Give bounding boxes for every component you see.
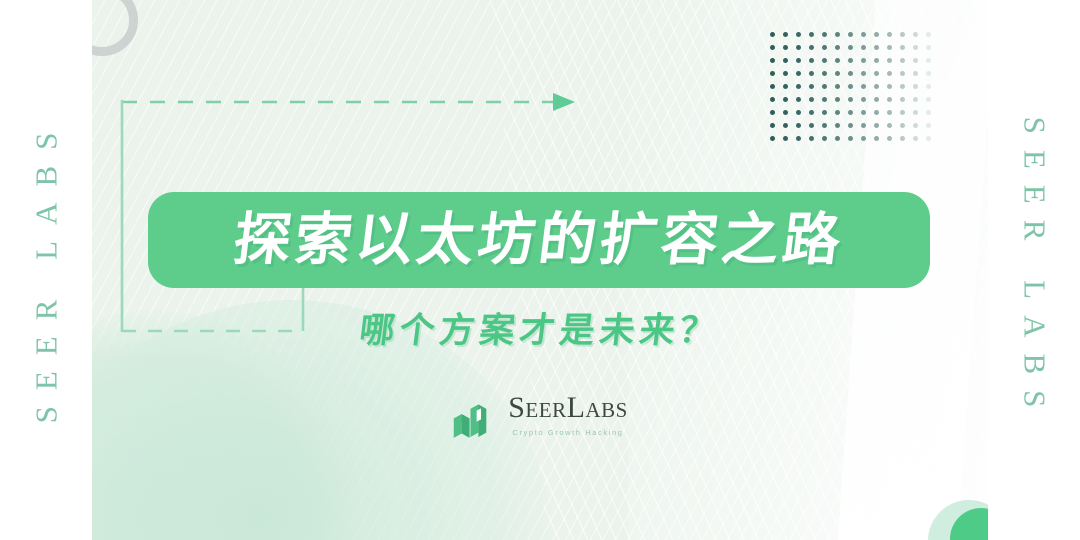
dot-grid-dot — [870, 67, 883, 80]
dot-grid-dot — [792, 93, 805, 106]
dot-grid-dot — [896, 132, 909, 145]
dot-grid-dot — [883, 67, 896, 80]
page-title: 探索以太坊的扩容之路 — [231, 212, 848, 269]
dot-grid-pattern — [766, 28, 935, 145]
dot-grid-dot — [922, 132, 935, 145]
dot-grid-dot — [896, 28, 909, 41]
dot-grid-dot — [766, 28, 779, 41]
dot-grid-row — [766, 93, 935, 106]
dot-grid-dot — [844, 28, 857, 41]
dot-grid-dot — [766, 67, 779, 80]
dot-grid-row — [766, 41, 935, 54]
dot-grid-dot — [896, 41, 909, 54]
dot-grid-dot — [766, 93, 779, 106]
dot-grid-dot — [883, 41, 896, 54]
dot-grid-dot — [766, 132, 779, 145]
dot-grid-dot — [766, 106, 779, 119]
dot-grid-dot — [896, 67, 909, 80]
dot-grid-dot — [792, 54, 805, 67]
dot-grid-dot — [805, 67, 818, 80]
dot-grid-dot — [870, 54, 883, 67]
dot-grid-dot — [896, 106, 909, 119]
dot-grid-dot — [766, 54, 779, 67]
dot-grid-dot — [805, 132, 818, 145]
dot-grid-dot — [818, 132, 831, 145]
dot-grid-dot — [870, 132, 883, 145]
dot-grid-dot — [857, 106, 870, 119]
dot-grid-dot — [909, 119, 922, 132]
dot-grid-row — [766, 80, 935, 93]
dot-grid-dot — [805, 54, 818, 67]
dot-grid-dot — [909, 106, 922, 119]
dot-grid-dot — [792, 132, 805, 145]
dot-grid-dot — [909, 54, 922, 67]
brand-text: SeerLabs Crypto Growth Hacking — [508, 393, 628, 437]
dot-grid-dot — [844, 132, 857, 145]
dot-grid-row — [766, 54, 935, 67]
dot-grid-dot — [779, 132, 792, 145]
dot-grid-dot — [909, 93, 922, 106]
dot-grid-dot — [883, 132, 896, 145]
dot-grid-dot — [831, 119, 844, 132]
dot-grid-dot — [831, 28, 844, 41]
dot-grid-dot — [831, 67, 844, 80]
dot-grid-dot — [792, 119, 805, 132]
dot-grid-dot — [909, 132, 922, 145]
dot-grid-dot — [883, 106, 896, 119]
dot-grid-dot — [818, 80, 831, 93]
dot-grid-dot — [844, 80, 857, 93]
dot-grid-dot — [792, 106, 805, 119]
dot-grid-dot — [844, 106, 857, 119]
dot-grid-dot — [844, 67, 857, 80]
dot-grid-dot — [922, 93, 935, 106]
left-side-panel: SEER LABS — [0, 0, 92, 540]
dot-grid-dot — [922, 119, 935, 132]
dot-grid-dot — [844, 93, 857, 106]
dot-grid-dot — [857, 119, 870, 132]
dot-grid-dot — [805, 28, 818, 41]
dot-grid-dot — [831, 106, 844, 119]
dot-grid-dot — [909, 28, 922, 41]
dot-grid-dot — [818, 119, 831, 132]
dot-grid-dot — [896, 54, 909, 67]
left-vertical-wordmark: SEER LABS — [28, 117, 64, 424]
dot-grid-dot — [766, 41, 779, 54]
dot-grid-dot — [922, 28, 935, 41]
dot-grid-dot — [896, 80, 909, 93]
dot-grid-row — [766, 106, 935, 119]
dot-grid-row — [766, 132, 935, 145]
dot-grid-dot — [779, 80, 792, 93]
dot-grid-row — [766, 28, 935, 41]
dot-grid-dot — [844, 41, 857, 54]
dot-grid-dot — [883, 80, 896, 93]
dot-grid-dot — [792, 80, 805, 93]
dot-grid-dot — [779, 67, 792, 80]
dot-grid-dot — [805, 93, 818, 106]
dot-grid-dot — [909, 80, 922, 93]
dot-grid-dot — [870, 28, 883, 41]
dot-grid-dot — [909, 41, 922, 54]
dot-grid-dot — [818, 67, 831, 80]
dot-grid-dot — [883, 28, 896, 41]
dot-grid-dot — [857, 41, 870, 54]
dot-grid-dot — [805, 80, 818, 93]
dot-grid-dot — [779, 28, 792, 41]
dot-grid-dot — [870, 106, 883, 119]
dot-grid-dot — [792, 41, 805, 54]
brand-tagline: Crypto Growth Hacking — [512, 428, 623, 437]
page-subtitle: 哪个方案才是未来？ — [0, 302, 1080, 353]
title-banner: 探索以太坊的扩容之路 — [148, 192, 930, 288]
dot-grid-dot — [831, 54, 844, 67]
dot-grid-dot — [805, 119, 818, 132]
dot-grid-dot — [883, 93, 896, 106]
dot-grid-dot — [805, 41, 818, 54]
dot-grid-dot — [818, 54, 831, 67]
dot-grid-row — [766, 67, 935, 80]
dot-grid-row — [766, 119, 935, 132]
dot-grid-dot — [779, 41, 792, 54]
dot-grid-dot — [909, 67, 922, 80]
dot-grid-dot — [870, 119, 883, 132]
brand-name: SeerLabs — [508, 393, 628, 423]
dot-grid-dot — [896, 93, 909, 106]
dot-grid-dot — [870, 80, 883, 93]
right-side-panel: SEER LABS — [988, 0, 1080, 540]
dot-grid-dot — [818, 41, 831, 54]
dot-grid-dot — [922, 80, 935, 93]
dot-grid-dot — [844, 54, 857, 67]
dot-grid-dot — [831, 132, 844, 145]
dot-grid-dot — [805, 106, 818, 119]
dot-grid-dot — [857, 54, 870, 67]
dot-grid-dot — [922, 106, 935, 119]
dot-grid-dot — [857, 93, 870, 106]
dot-grid-dot — [818, 28, 831, 41]
dot-grid-dot — [870, 41, 883, 54]
dot-grid-dot — [922, 54, 935, 67]
dot-grid-dot — [857, 67, 870, 80]
dot-grid-dot — [922, 67, 935, 80]
dot-grid-dot — [844, 119, 857, 132]
brand-logo: SeerLabs Crypto Growth Hacking — [0, 392, 1080, 438]
dot-grid-dot — [857, 132, 870, 145]
dot-grid-dot — [857, 80, 870, 93]
dot-grid-dot — [831, 41, 844, 54]
isometric-bars-logo-icon — [452, 392, 496, 438]
dot-grid-dot — [779, 54, 792, 67]
dot-grid-dot — [870, 93, 883, 106]
dot-grid-dot — [896, 119, 909, 132]
dot-grid-dot — [779, 119, 792, 132]
dot-grid-dot — [883, 119, 896, 132]
dot-grid-dot — [831, 93, 844, 106]
dot-grid-dot — [883, 54, 896, 67]
right-vertical-wordmark: SEER LABS — [1016, 117, 1052, 424]
dot-grid-dot — [779, 106, 792, 119]
dot-grid-dot — [766, 80, 779, 93]
poster-root: 探索以太坊的扩容之路 哪个方案才是未来？ SeerLabs Crypto Gro… — [0, 0, 1080, 540]
dot-grid-dot — [792, 67, 805, 80]
dot-grid-dot — [857, 28, 870, 41]
dot-grid-dot — [831, 80, 844, 93]
dot-grid-dot — [922, 41, 935, 54]
dot-grid-dot — [792, 28, 805, 41]
dot-grid-dot — [818, 93, 831, 106]
dot-grid-dot — [779, 93, 792, 106]
dot-grid-dot — [818, 106, 831, 119]
dot-grid-dot — [766, 119, 779, 132]
